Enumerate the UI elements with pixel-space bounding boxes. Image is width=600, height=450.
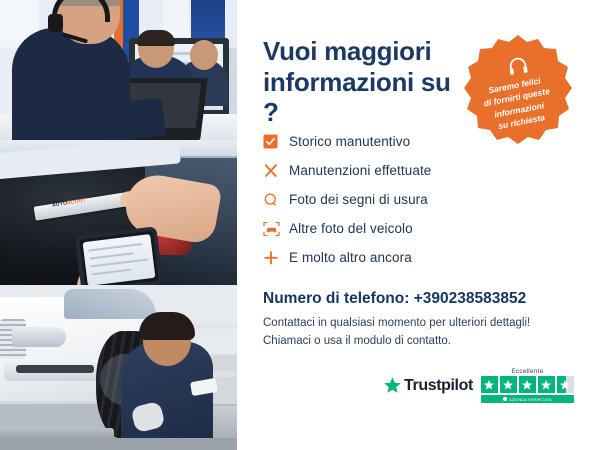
star-filled bbox=[500, 376, 517, 393]
tools-wrench-icon bbox=[263, 163, 289, 179]
tablet-line bbox=[91, 269, 131, 276]
verified-label: AZIENDA VERIFICATA bbox=[509, 397, 552, 402]
agent-hair-2 bbox=[137, 30, 175, 46]
feature-label: Storico manutentivo bbox=[289, 134, 410, 149]
car-headlight bbox=[12, 327, 66, 347]
tablet-line bbox=[89, 252, 133, 259]
car-scan-icon bbox=[263, 221, 289, 237]
vehicle-inspection-tool-photo: AUTOSCOUT bbox=[0, 140, 237, 285]
mechanic-wheel-inspection-photo bbox=[0, 285, 237, 450]
star-filled bbox=[519, 376, 536, 393]
feature-item-manutenzioni: Manutenzioni effettuate bbox=[263, 157, 523, 184]
verified-check-icon bbox=[503, 397, 507, 401]
headline-line-1: Vuoi maggiori bbox=[263, 36, 431, 66]
contact-subtext-1: Contattaci in qualsiasi momento per ulte… bbox=[263, 317, 530, 329]
plus-icon bbox=[263, 250, 289, 266]
feature-label: Manutenzioni effettuate bbox=[289, 163, 431, 178]
trustpilot-rating-block: Eccellente bbox=[481, 368, 574, 403]
feature-label: E molto altro ancora bbox=[289, 250, 412, 265]
feature-label: Foto dei segni di usura bbox=[289, 192, 428, 207]
trustpilot-widget[interactable]: Trustpilot Eccellente bbox=[383, 368, 574, 403]
promo-banner: AUTOSCOUT bbox=[0, 0, 600, 450]
phone-line[interactable]: Numero di telefono: +390238583852 bbox=[263, 290, 526, 308]
workshop-floor bbox=[0, 438, 237, 450]
headline-line-2: informazioni su ? bbox=[263, 67, 451, 128]
feature-label: Altre foto del veicolo bbox=[289, 221, 413, 236]
diagnostic-tablet bbox=[75, 226, 163, 285]
star-filled bbox=[481, 376, 498, 393]
page-title: Vuoi maggiori informazioni su ? bbox=[263, 36, 463, 128]
contact-subtext-2: Chiamaci o usa il modulo di contatto. bbox=[263, 335, 451, 347]
feature-item-altre-foto: Altre foto del veicolo bbox=[263, 215, 523, 242]
tablet-line bbox=[90, 258, 148, 267]
bumper-vent bbox=[16, 365, 94, 373]
mechanic-hair bbox=[139, 312, 195, 340]
headset-earcup bbox=[48, 14, 63, 32]
tablet-screen bbox=[83, 234, 156, 285]
feature-list: Storico manutentivo Manutenzioni effettu… bbox=[263, 128, 523, 273]
trustpilot-rating-label: Eccellente bbox=[481, 368, 574, 375]
trustpilot-stars bbox=[481, 376, 574, 393]
trustpilot-wordmark: Trustpilot bbox=[404, 377, 473, 395]
call-center-agents-photo bbox=[0, 0, 237, 140]
content-panel: Vuoi maggiori informazioni su ? Saremo f… bbox=[237, 0, 600, 450]
feature-item-storico: Storico manutentivo bbox=[263, 128, 523, 155]
trustpilot-logo: Trustpilot bbox=[383, 368, 473, 395]
car-windshield bbox=[64, 289, 156, 319]
trustpilot-verified-badge: AZIENDA VERIFICATA bbox=[481, 395, 574, 403]
camera-lens-icon bbox=[263, 192, 289, 208]
star-half bbox=[557, 376, 574, 393]
trustpilot-star-icon bbox=[383, 376, 402, 395]
star-filled bbox=[538, 376, 555, 393]
tablet-line bbox=[89, 243, 143, 252]
feature-item-altro: E molto altro ancora bbox=[263, 244, 523, 271]
feature-item-foto-usura: Foto dei segni di usura bbox=[263, 186, 523, 213]
headset-icon bbox=[506, 54, 531, 79]
checkbox-checked-icon bbox=[263, 134, 289, 149]
photo-column: AUTOSCOUT bbox=[0, 0, 237, 450]
agent-head-3 bbox=[190, 40, 218, 70]
